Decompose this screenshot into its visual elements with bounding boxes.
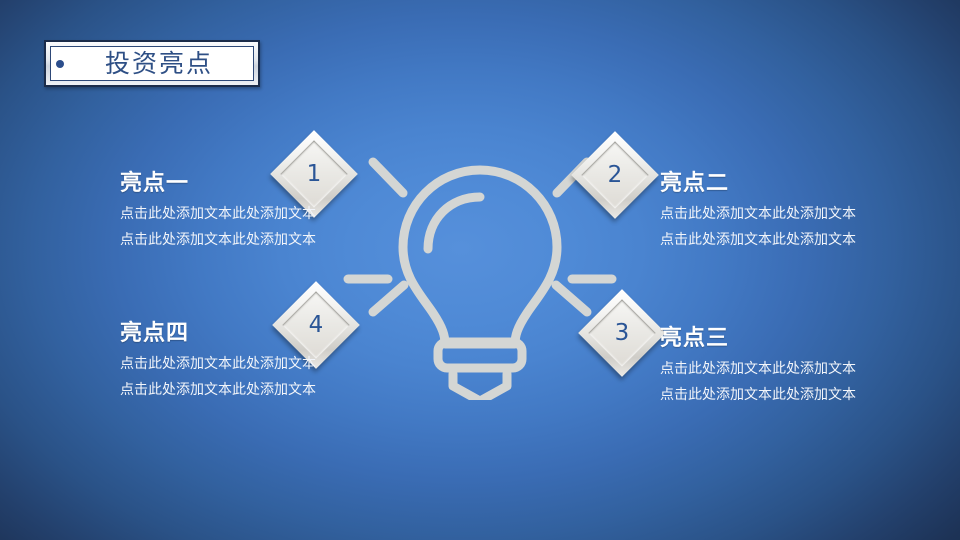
dot-bullet-icon: [56, 60, 64, 68]
highlight-line-1-1: 点击此处添加文本此处添加文本: [120, 202, 316, 228]
page-title: 投资亮点: [51, 51, 253, 76]
highlight-heading-3: 亮点三: [660, 327, 856, 351]
highlight-line-2-1: 点击此处添加文本此处添加文本: [660, 202, 856, 228]
slide-canvas: 投资亮点: [0, 0, 960, 540]
diamond-badge-3[interactable]: 3: [578, 289, 666, 377]
highlight-line-4-1: 点击此处添加文本此处添加文本: [120, 352, 316, 378]
diamond-badge-number: 3: [591, 302, 653, 364]
highlight-line-2-2: 点击此处添加文本此处添加文本: [660, 228, 856, 254]
highlight-line-3-2: 点击此处添加文本此处添加文本: [660, 383, 856, 409]
diamond-badge-number: 2: [584, 144, 646, 206]
highlight-block-1: 亮点一 点击此处添加文本此处添加文本 点击此处添加文本此处添加文本: [120, 172, 316, 254]
highlight-block-2: 亮点二 点击此处添加文本此处添加文本 点击此处添加文本此处添加文本: [660, 172, 856, 254]
highlight-heading-1: 亮点一: [120, 172, 316, 196]
highlight-line-1-2: 点击此处添加文本此处添加文本: [120, 228, 316, 254]
diamond-badge-2[interactable]: 2: [571, 131, 659, 219]
slide-title-plaque: 投资亮点: [44, 40, 260, 87]
highlight-block-3: 亮点三 点击此处添加文本此处添加文本 点击此处添加文本此处添加文本: [660, 327, 856, 409]
slide-title-inner-frame: 投资亮点: [50, 46, 254, 81]
highlight-line-3-1: 点击此处添加文本此处添加文本: [660, 357, 856, 383]
highlight-heading-2: 亮点二: [660, 172, 856, 196]
highlight-line-4-2: 点击此处添加文本此处添加文本: [120, 378, 316, 404]
highlight-heading-4: 亮点四: [120, 322, 316, 346]
highlight-block-4: 亮点四 点击此处添加文本此处添加文本 点击此处添加文本此处添加文本: [120, 322, 316, 404]
